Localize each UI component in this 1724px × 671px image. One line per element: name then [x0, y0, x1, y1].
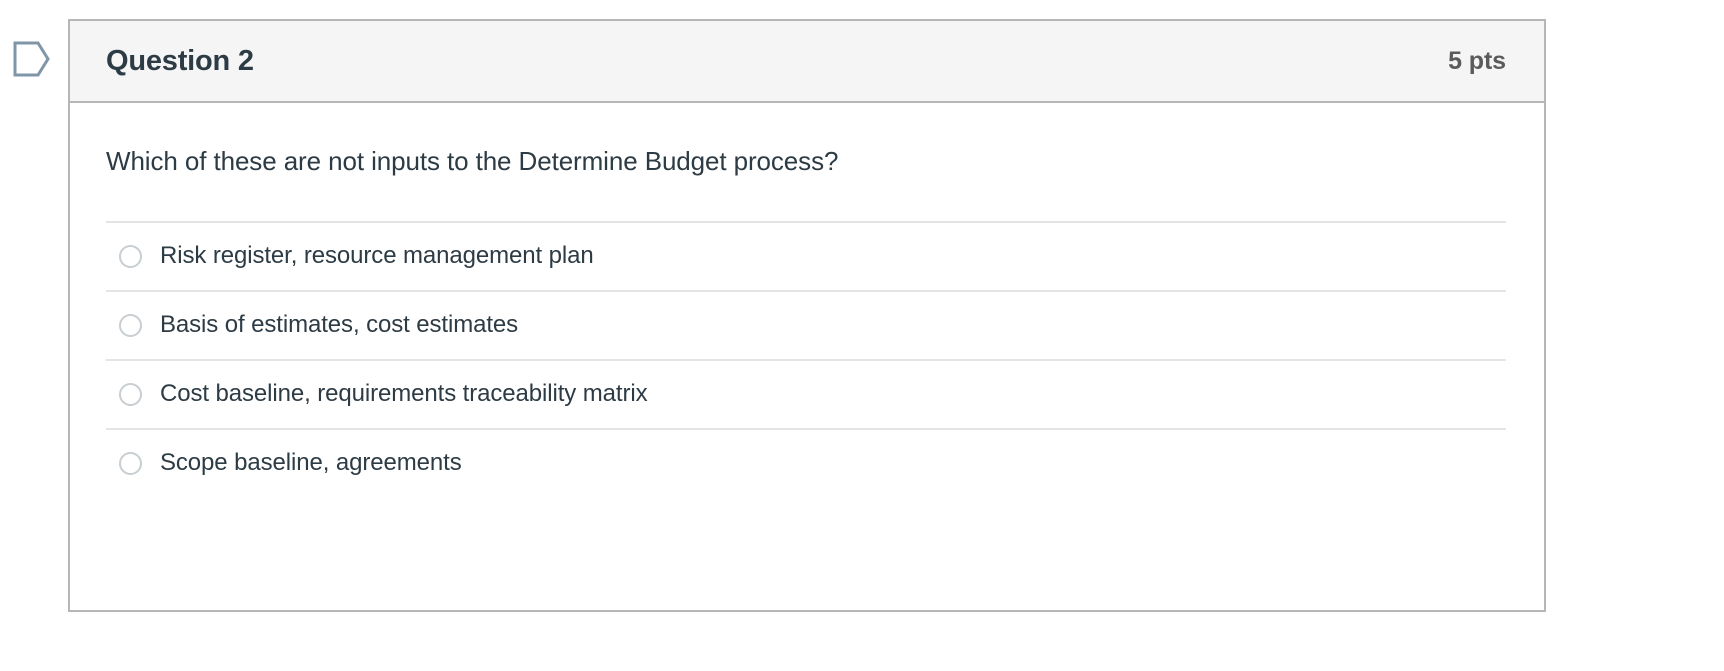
- radio-button-icon[interactable]: [119, 383, 142, 406]
- answer-option-label: Basis of estimates, cost estimates: [160, 311, 518, 340]
- radio-button-icon[interactable]: [119, 314, 142, 337]
- radio-button-icon[interactable]: [119, 452, 142, 475]
- answer-option-1[interactable]: Risk register, resource management plan: [106, 221, 1506, 290]
- question-prompt: Which of these are not inputs to the Det…: [106, 103, 1506, 193]
- answer-option-3[interactable]: Cost baseline, requirements traceability…: [106, 359, 1506, 428]
- answer-option-label: Risk register, resource management plan: [160, 242, 594, 271]
- question-body: Which of these are not inputs to the Det…: [70, 103, 1544, 497]
- question-header: Question 2 5 pts: [70, 21, 1544, 103]
- answer-option-2[interactable]: Basis of estimates, cost estimates: [106, 290, 1506, 359]
- answer-options-list: Risk register, resource management plan …: [106, 221, 1506, 497]
- question-title: Question 2: [106, 47, 254, 76]
- answer-option-label: Scope baseline, agreements: [160, 449, 462, 478]
- pentagon-tag-icon: [13, 41, 51, 77]
- radio-button-icon[interactable]: [119, 245, 142, 268]
- answer-option-label: Cost baseline, requirements traceability…: [160, 380, 648, 409]
- question-card: Question 2 5 pts Which of these are not …: [68, 19, 1546, 612]
- answer-option-4[interactable]: Scope baseline, agreements: [106, 428, 1506, 497]
- question-points: 5 pts: [1448, 49, 1506, 74]
